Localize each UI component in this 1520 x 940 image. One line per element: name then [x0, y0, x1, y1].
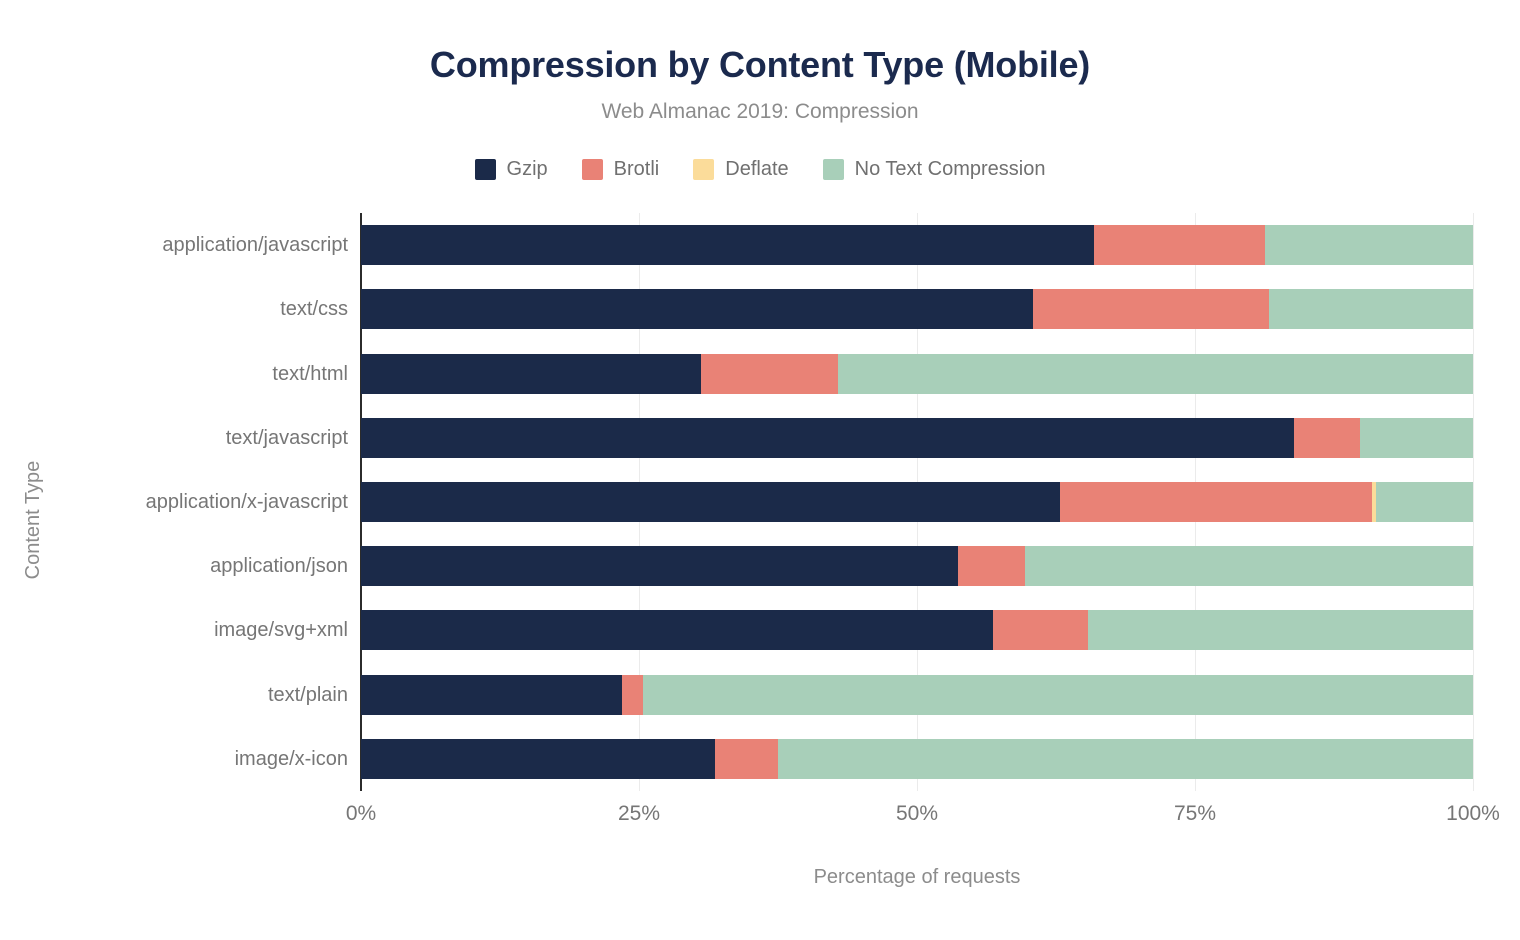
chart-subtitle: Web Almanac 2019: Compression [0, 100, 1520, 124]
bar-segment[interactable] [361, 546, 958, 586]
legend-item[interactable]: Deflate [693, 158, 788, 181]
chart-title: Compression by Content Type (Mobile) [0, 44, 1520, 86]
x-tick-label: 25% [618, 802, 660, 826]
bar-segment[interactable] [1094, 225, 1265, 265]
bar-segment[interactable] [993, 610, 1089, 650]
bar-series-group [361, 213, 1473, 791]
legend-label: Brotli [614, 158, 660, 181]
y-tick-label: text/css [0, 289, 348, 329]
bar-segment[interactable] [1033, 289, 1270, 329]
bar-segment[interactable] [701, 354, 838, 394]
y-tick-label: image/svg+xml [0, 610, 348, 650]
x-tick-label: 0% [346, 802, 376, 826]
bar-segment[interactable] [1294, 418, 1360, 458]
bar-segment[interactable] [361, 289, 1033, 329]
legend-label: Deflate [725, 158, 788, 181]
bar-segment[interactable] [361, 675, 622, 715]
y-axis-tick-labels: application/javascripttext/csstext/htmlt… [0, 213, 348, 791]
bar-segment[interactable] [361, 225, 1094, 265]
y-tick-label: application/json [0, 546, 348, 586]
x-tick-label: 100% [1446, 802, 1500, 826]
bar-segment[interactable] [1269, 289, 1472, 329]
y-tick-label: text/plain [0, 675, 348, 715]
legend-item[interactable]: No Text Compression [823, 158, 1046, 181]
legend-item[interactable]: Gzip [475, 158, 548, 181]
bar-segment[interactable] [622, 675, 643, 715]
bar-segment[interactable] [778, 739, 1473, 779]
bar-row[interactable] [361, 546, 1473, 586]
y-tick-label: application/x-javascript [0, 482, 348, 522]
bar-segment[interactable] [361, 418, 1294, 458]
bar-row[interactable] [361, 225, 1473, 265]
bar-segment[interactable] [1360, 418, 1473, 458]
bar-segment[interactable] [1025, 546, 1473, 586]
bar-segment[interactable] [1088, 610, 1473, 650]
x-axis-title: Percentage of requests [361, 866, 1473, 889]
y-tick-label: text/javascript [0, 418, 348, 458]
legend-swatch-icon [823, 159, 844, 180]
bar-segment[interactable] [1265, 225, 1473, 265]
bar-segment[interactable] [361, 482, 1060, 522]
bar-segment[interactable] [958, 546, 1025, 586]
legend-swatch-icon [693, 159, 714, 180]
y-axis-title: Content Type [22, 420, 45, 620]
bar-segment[interactable] [361, 739, 715, 779]
legend-label: Gzip [507, 158, 548, 181]
legend-item[interactable]: Brotli [582, 158, 660, 181]
bar-row[interactable] [361, 289, 1473, 329]
bar-row[interactable] [361, 418, 1473, 458]
x-tick-label: 75% [1174, 802, 1216, 826]
bar-segment[interactable] [1376, 482, 1473, 522]
legend-swatch-icon [582, 159, 603, 180]
bar-segment[interactable] [838, 354, 1473, 394]
x-tick-label: 50% [896, 802, 938, 826]
chart-legend: GzipBrotliDeflateNo Text Compression [0, 158, 1520, 181]
plot-area [361, 213, 1473, 791]
bar-segment[interactable] [715, 739, 778, 779]
bar-row[interactable] [361, 482, 1473, 522]
bar-row[interactable] [361, 610, 1473, 650]
bar-segment[interactable] [643, 675, 1473, 715]
legend-swatch-icon [475, 159, 496, 180]
bar-row[interactable] [361, 354, 1473, 394]
chart-container: Compression by Content Type (Mobile) Web… [0, 0, 1520, 940]
bar-segment[interactable] [361, 610, 993, 650]
bar-row[interactable] [361, 675, 1473, 715]
bar-segment[interactable] [1060, 482, 1371, 522]
gridline [1473, 213, 1474, 791]
x-axis-tick-labels: 0%25%50%75%100% [361, 802, 1473, 836]
y-tick-label: image/x-icon [0, 739, 348, 779]
y-tick-label: text/html [0, 354, 348, 394]
bar-row[interactable] [361, 739, 1473, 779]
y-tick-label: application/javascript [0, 225, 348, 265]
legend-label: No Text Compression [855, 158, 1046, 181]
bar-segment[interactable] [361, 354, 701, 394]
